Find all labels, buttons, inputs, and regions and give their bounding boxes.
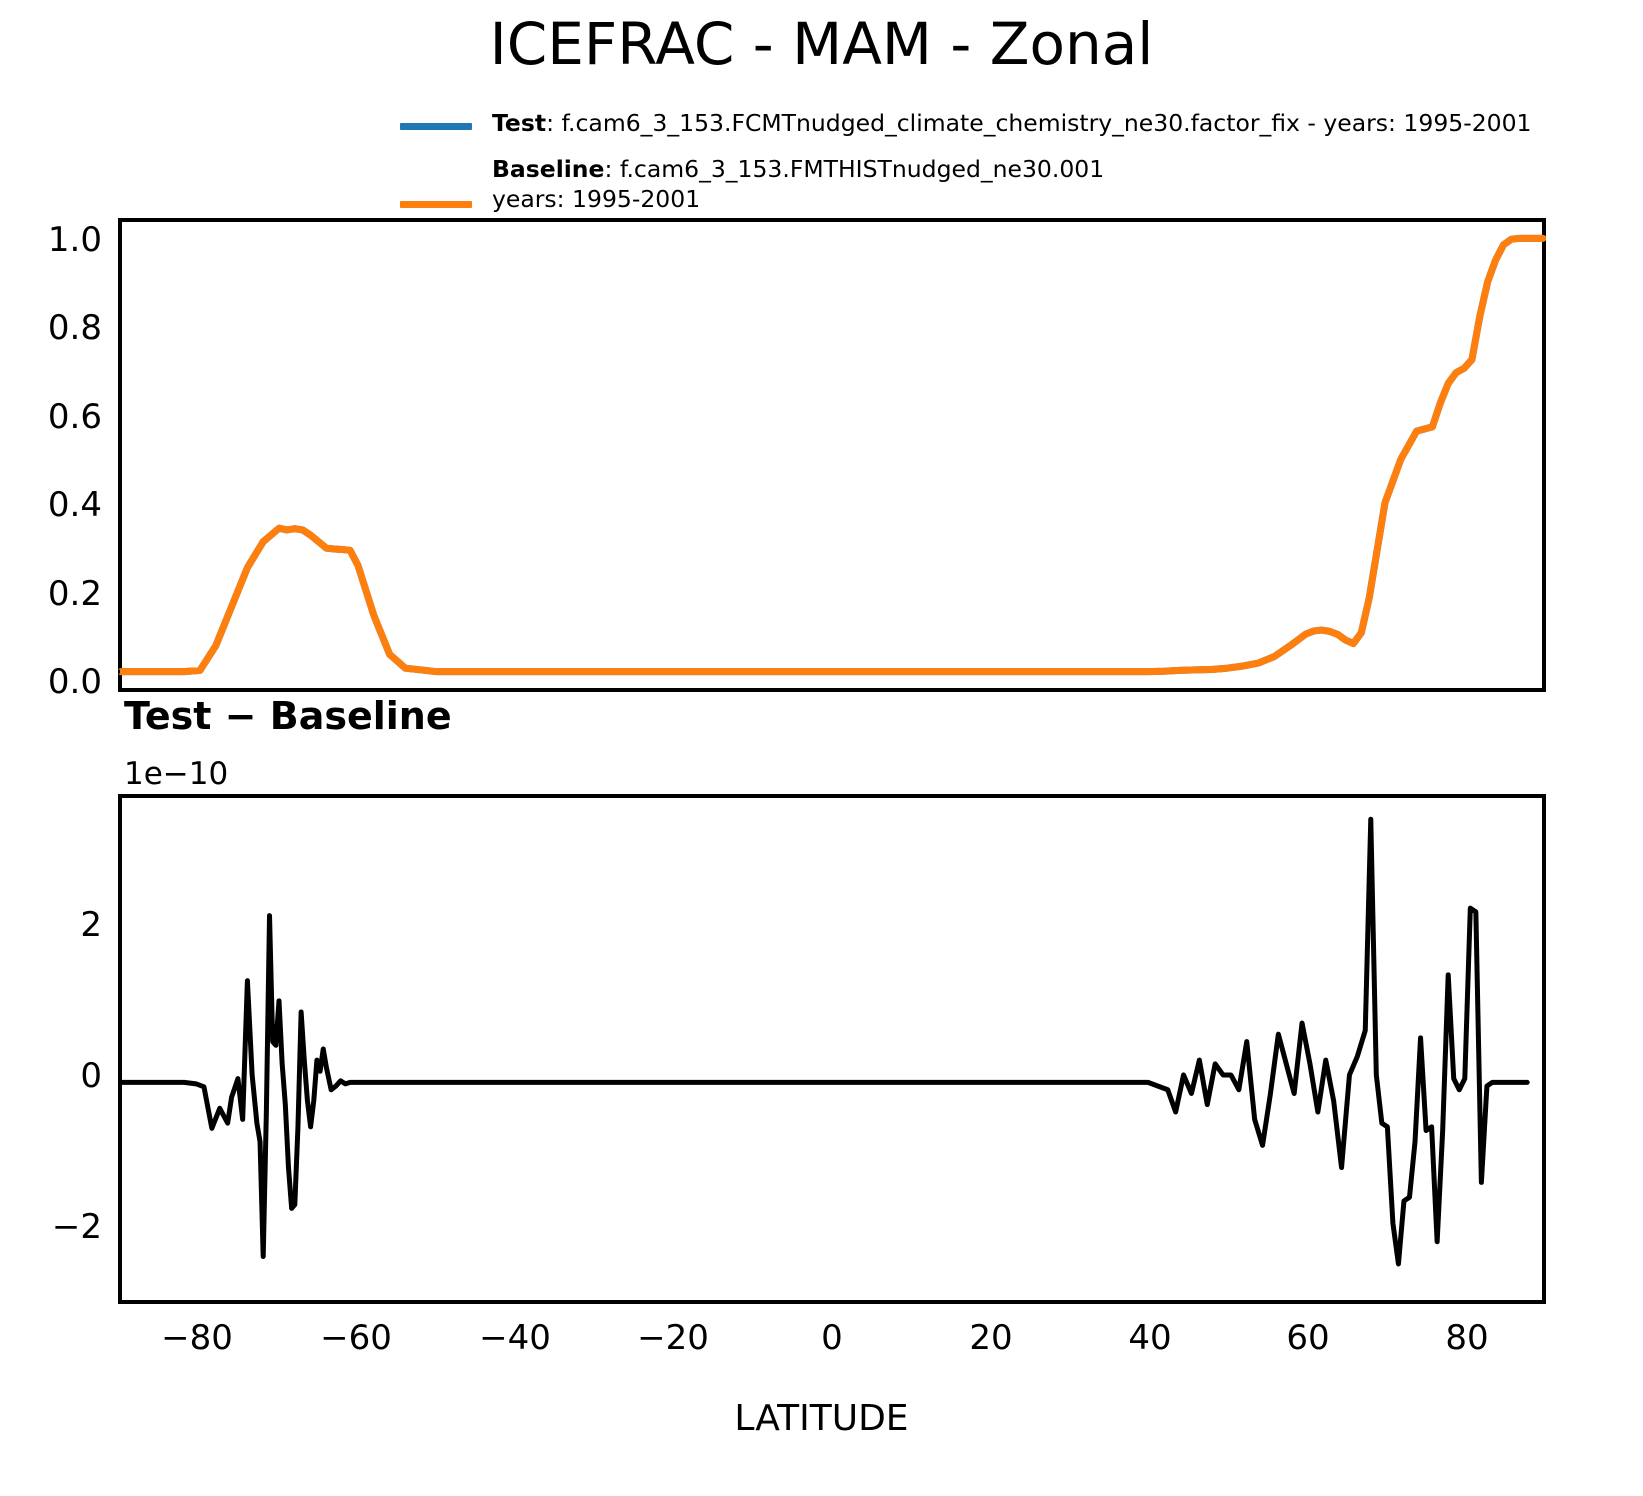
legend-swatch-baseline [400, 201, 472, 208]
top-ytick-label-0_8: 0.8 [22, 308, 102, 348]
legend-desc-baseline: f.cam6_3_153.FMTHISTnudged_ne30.001 [620, 155, 1104, 183]
legend-sep-test: : [546, 109, 561, 137]
top-ytick-label-0: 0.0 [22, 662, 102, 702]
legend-entry-baseline: Baseline: f.cam6_3_153.FMTHISTnudged_ne3… [400, 154, 1580, 224]
bottom-ytick-label-neg2: −2 [6, 1207, 102, 1247]
legend-label-test: Test: f.cam6_3_153.FCMTnudged_climate_ch… [492, 108, 1580, 138]
legend-desc2-baseline: years: 1995-2001 [492, 184, 1580, 214]
legend-desc-test: f.cam6_3_153.FCMTnudged_climate_chemistr… [561, 109, 1531, 137]
xtick-label-40: 40 [1128, 1318, 1171, 1358]
xtick-label-80: 80 [1445, 1318, 1488, 1358]
xtick-label-20: 20 [969, 1318, 1012, 1358]
difference-offset-text: 1e−10 [124, 756, 228, 792]
matplotlib-figure: ICEFRAC - MAM - Zonal Test: f.cam6_3_153… [0, 0, 1643, 1496]
difference-panel [118, 794, 1546, 1304]
legend-entry-test: Test: f.cam6_3_153.FCMTnudged_climate_ch… [400, 108, 1580, 154]
legend-label-baseline: Baseline: f.cam6_3_153.FMTHISTnudged_ne3… [492, 154, 1580, 184]
top-ytick-label-0_2: 0.2 [22, 574, 102, 614]
xtick-label-neg20: −20 [637, 1318, 709, 1358]
xtick-label-neg40: −40 [479, 1318, 551, 1358]
bottom-ytick-label-2: 2 [22, 905, 102, 945]
xtick-label-neg60: −60 [320, 1318, 392, 1358]
xtick-label-0: 0 [821, 1318, 843, 1358]
legend-swatch-test [400, 123, 472, 130]
legend-name-test: Test [492, 109, 546, 137]
top-panel-frame [120, 220, 1544, 690]
x-axis-label: LATITUDE [0, 1398, 1643, 1439]
bottom-panel-frame [120, 796, 1544, 1302]
top-ytick-label-1: 1.0 [22, 220, 102, 260]
top-ytick-label-0_6: 0.6 [22, 397, 102, 437]
top-ytick-label-0_4: 0.4 [22, 485, 102, 525]
xtick-label-60: 60 [1286, 1318, 1329, 1358]
difference-panel-title: Test − Baseline [124, 694, 452, 738]
bottom-ytick-label-0: 0 [22, 1056, 102, 1096]
page-title: ICEFRAC - MAM - Zonal [0, 10, 1643, 78]
legend-name-baseline: Baseline [492, 155, 604, 183]
xtick-label-neg80: −80 [161, 1318, 233, 1358]
legend-sep-baseline: : [604, 155, 619, 183]
zonal-mean-panel [118, 218, 1546, 692]
legend: Test: f.cam6_3_153.FCMTnudged_climate_ch… [400, 108, 1580, 224]
